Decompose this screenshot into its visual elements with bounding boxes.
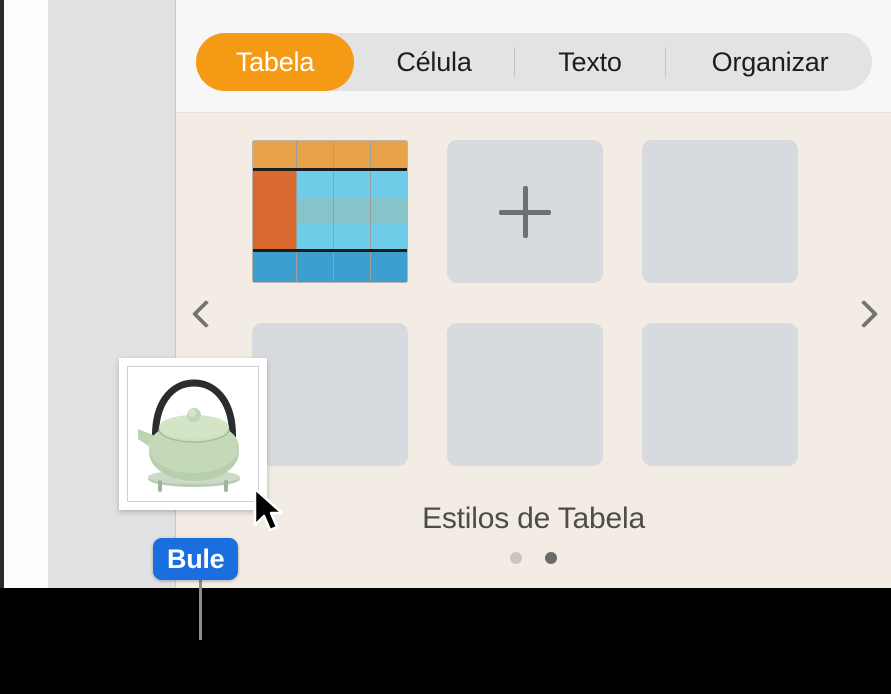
table-preview-body-row <box>253 223 407 252</box>
styles-next-button[interactable] <box>842 286 886 342</box>
callout-leader-line <box>199 570 202 640</box>
pagination-dot-2[interactable] <box>545 552 557 564</box>
empty-style-tile[interactable] <box>642 140 798 283</box>
table-preview-cell <box>334 171 370 197</box>
tab-texto-label: Texto <box>558 47 622 78</box>
table-preview-cell <box>334 252 370 282</box>
chevron-left-icon <box>192 300 220 328</box>
empty-style-tile[interactable] <box>252 323 408 466</box>
table-preview-cell <box>371 252 407 282</box>
table-preview-cell <box>253 252 296 282</box>
table-preview-cell <box>297 197 333 223</box>
teapot-image-thumbnail[interactable] <box>119 358 267 510</box>
chevron-right-icon <box>850 300 878 328</box>
table-preview-cell <box>297 141 333 168</box>
table-preview-footer-row <box>253 252 407 282</box>
table-preview-cell <box>253 223 296 249</box>
table-preview-cell <box>297 223 333 249</box>
table-preview-cell <box>253 141 296 168</box>
document-page-strip <box>4 0 48 588</box>
tab-organizar[interactable]: Organizar <box>666 33 874 91</box>
table-preview-cell <box>334 223 370 249</box>
table-preview-cell <box>334 197 370 223</box>
table-preview-cell <box>297 171 333 197</box>
tab-tabela[interactable]: Tabela <box>196 33 354 91</box>
tab-celula-label: Célula <box>396 47 471 78</box>
table-preview-cell <box>371 171 407 197</box>
pagination-dot-1[interactable] <box>510 552 522 564</box>
styles-row <box>252 323 822 466</box>
inspector-tab-bar[interactable]: Tabela Célula Texto Organizar <box>196 33 872 91</box>
table-preview-cell <box>253 197 296 223</box>
styles-row <box>252 140 822 283</box>
table-preview <box>252 140 408 283</box>
arrow-cursor <box>252 487 286 535</box>
plus-icon <box>499 186 551 238</box>
styles-prev-button[interactable] <box>184 286 228 342</box>
styles-pagination[interactable] <box>176 552 891 564</box>
table-preview-body-row <box>253 171 407 197</box>
table-preview-cell <box>371 141 407 168</box>
table-preview-cell <box>297 252 333 282</box>
teapot-thumbnail-frame <box>127 366 259 502</box>
tab-organizar-label: Organizar <box>712 47 829 78</box>
table-preview-cell <box>334 141 370 168</box>
screenshot-letterbox <box>0 588 891 694</box>
table-preview-cell <box>371 223 407 249</box>
teapot-illustration <box>128 367 259 502</box>
empty-style-tile[interactable] <box>447 323 603 466</box>
selection-callout-badge: Bule <box>153 538 238 580</box>
table-preview-cell <box>253 171 296 197</box>
tab-celula[interactable]: Célula <box>354 33 514 91</box>
tab-tabela-label: Tabela <box>236 47 314 78</box>
table-styles-grid <box>252 140 822 466</box>
table-preview-header-row <box>253 141 407 171</box>
tab-texto[interactable]: Texto <box>515 33 665 91</box>
screenshot-root: Tabela Célula Texto Organizar <box>0 0 891 694</box>
add-style-tile[interactable] <box>447 140 603 283</box>
table-style-thumbnail[interactable] <box>252 140 408 283</box>
table-preview-cell <box>371 197 407 223</box>
empty-style-tile[interactable] <box>642 323 798 466</box>
table-preview-body-row <box>253 197 407 223</box>
